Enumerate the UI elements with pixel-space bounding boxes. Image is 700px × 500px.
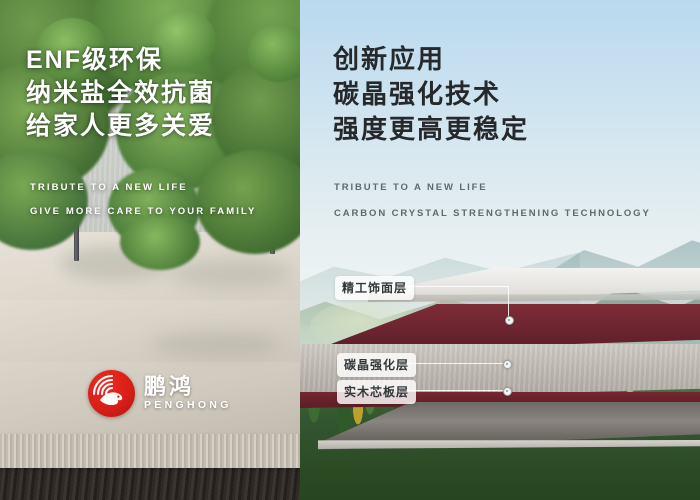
right-subtitle-line-1: TRIBUTE TO A NEW LIFE bbox=[334, 182, 651, 193]
callout-label-wood-core: 实木芯板层 bbox=[337, 380, 416, 404]
left-subtitle-line-1: TRIBUTE TO A NEW LIFE bbox=[30, 182, 256, 193]
right-heading-line-1: 创新应用 bbox=[333, 42, 529, 77]
left-heading-line-3: 给家人更多关爱 bbox=[26, 110, 286, 143]
right-heading-line-2: 碳晶强化技术 bbox=[333, 77, 529, 112]
slab-bottom-backing-edge bbox=[318, 440, 700, 449]
logo-chinese-name: 鹏鸿 bbox=[144, 376, 232, 398]
callout-carbon-crystal[interactable]: 碳晶强化层 bbox=[337, 353, 416, 377]
penghong-eagle-emblem-icon bbox=[88, 370, 135, 417]
right-heading-line-3: 强度更高更稳定 bbox=[333, 112, 529, 147]
right-subtitle-group: TRIBUTE TO A NEW LIFE CARBON CRYSTAL STR… bbox=[334, 182, 651, 234]
anchor-dot-carbon-crystal bbox=[503, 360, 512, 369]
right-poster-panel: 精工饰面层 碳晶强化层 实木芯板层 创新应用 碳晶强化技术 强度更高更稳定 TR… bbox=[300, 0, 700, 500]
slab-decorative-surface-edge bbox=[368, 294, 700, 302]
callout-decorative-surface[interactable]: 精工饰面层 bbox=[335, 276, 414, 300]
logo-wordmark: 鹏鸿 PENGHONG bbox=[144, 376, 232, 411]
poster-stage: ENF级环保 纳米盐全效抗菌 给家人更多关爱 TRIBUTE TO A NEW … bbox=[0, 0, 700, 500]
left-subtitle-line-2: GIVE MORE CARE TO YOUR FAMILY bbox=[30, 206, 256, 217]
left-heading-line-2: 纳米盐全效抗菌 bbox=[26, 77, 286, 110]
left-heading-line-1: ENF级环保 bbox=[26, 44, 286, 77]
left-poster-panel: ENF级环保 纳米盐全效抗菌 给家人更多关爱 TRIBUTE TO A NEW … bbox=[0, 0, 300, 500]
callout-wood-core[interactable]: 实木芯板层 bbox=[337, 380, 416, 404]
left-subtitle-group: TRIBUTE TO A NEW LIFE GIVE MORE CARE TO … bbox=[30, 182, 256, 230]
right-subtitle-line-2: CARBON CRYSTAL STRENGTHENING TECHNOLOGY bbox=[334, 208, 651, 219]
brand-logo: 鹏鸿 PENGHONG bbox=[88, 370, 232, 417]
right-headline-group: 创新应用 碳晶强化技术 强度更高更稳定 bbox=[333, 42, 529, 146]
logo-english-name: PENGHONG bbox=[144, 400, 232, 411]
leader-line-1-vertical bbox=[508, 286, 509, 319]
left-headline-group: ENF级环保 纳米盐全效抗菌 给家人更多关爱 bbox=[26, 44, 286, 143]
callout-label-decorative-surface: 精工饰面层 bbox=[335, 276, 414, 300]
anchor-dot-wood-core bbox=[503, 387, 512, 396]
deck-shadow-c bbox=[150, 330, 280, 358]
anchor-dot-decorative-surface bbox=[505, 316, 514, 325]
callout-label-carbon-crystal: 碳晶强化层 bbox=[337, 353, 416, 377]
